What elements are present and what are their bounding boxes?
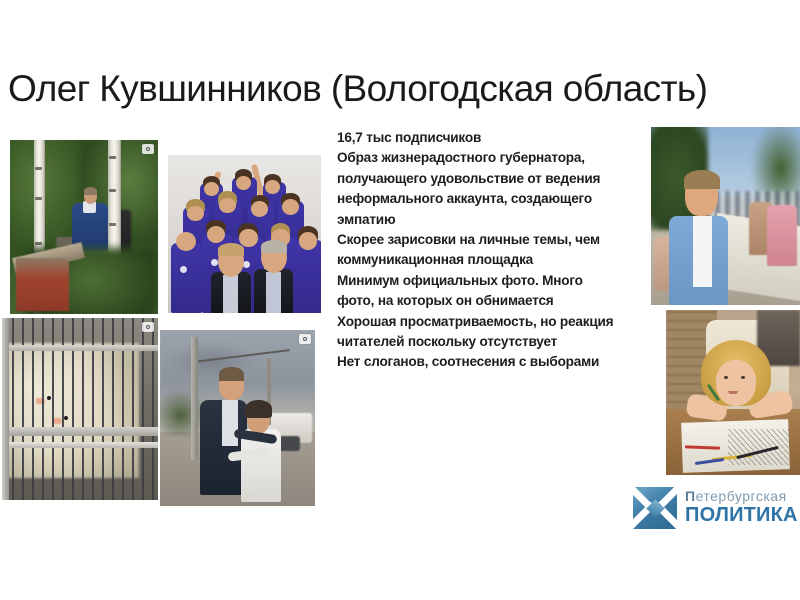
text-line: получающего удовольствие от ведения	[337, 169, 633, 189]
logo-capital-letter: П	[685, 488, 696, 504]
text-line: Минимум официальных фото. Много	[337, 271, 633, 291]
text-line: эмпатию	[337, 210, 633, 230]
photo-poultry-cage	[2, 318, 158, 500]
text-line: Образ жизнерадостного губернатора,	[337, 148, 633, 168]
photo-hug-woman	[160, 330, 315, 506]
photo-group-selfie	[168, 155, 321, 313]
photo-girl-drawing	[666, 310, 800, 475]
logo-line-peterburgskaya: Петербургская	[685, 488, 798, 505]
body-text-block: 16,7 тыс подписчиков Образ жизнерадостно…	[337, 128, 633, 373]
logo-mark-icon	[633, 487, 677, 529]
presentation-slide: Олег Кувшинников (Вологодская область) 1…	[0, 0, 800, 600]
camera-icon	[299, 334, 311, 344]
camera-icon	[142, 322, 154, 332]
page-title: Олег Кувшинников (Вологодская область)	[8, 66, 792, 112]
photo-blue-jacket-event	[651, 127, 800, 305]
camera-icon	[142, 144, 154, 154]
logo-text: Петербургская ПОЛИТИКА	[685, 488, 798, 526]
text-line: читателей поскольку отсутствует	[337, 332, 633, 352]
logo-line1-rest: етербургская	[696, 488, 787, 504]
peterburgskaya-politika-logo: Петербургская ПОЛИТИКА	[633, 485, 793, 533]
text-line: коммуникационная площадка	[337, 250, 633, 270]
text-line: Нет слоганов, соотнесения с выборами	[337, 352, 633, 372]
text-line-subscribers: 16,7 тыс подписчиков	[337, 128, 633, 148]
logo-line-politika: ПОЛИТИКА	[685, 505, 798, 526]
text-line: Хорошая просматриваемость, но реакция	[337, 312, 633, 332]
text-line: Скорее зарисовки на личные темы, чем	[337, 230, 633, 250]
text-line: неформального аккаунта, создающего	[337, 189, 633, 209]
text-line: фото, на которых он обнимается	[337, 291, 633, 311]
photo-forest-walk	[10, 140, 158, 314]
